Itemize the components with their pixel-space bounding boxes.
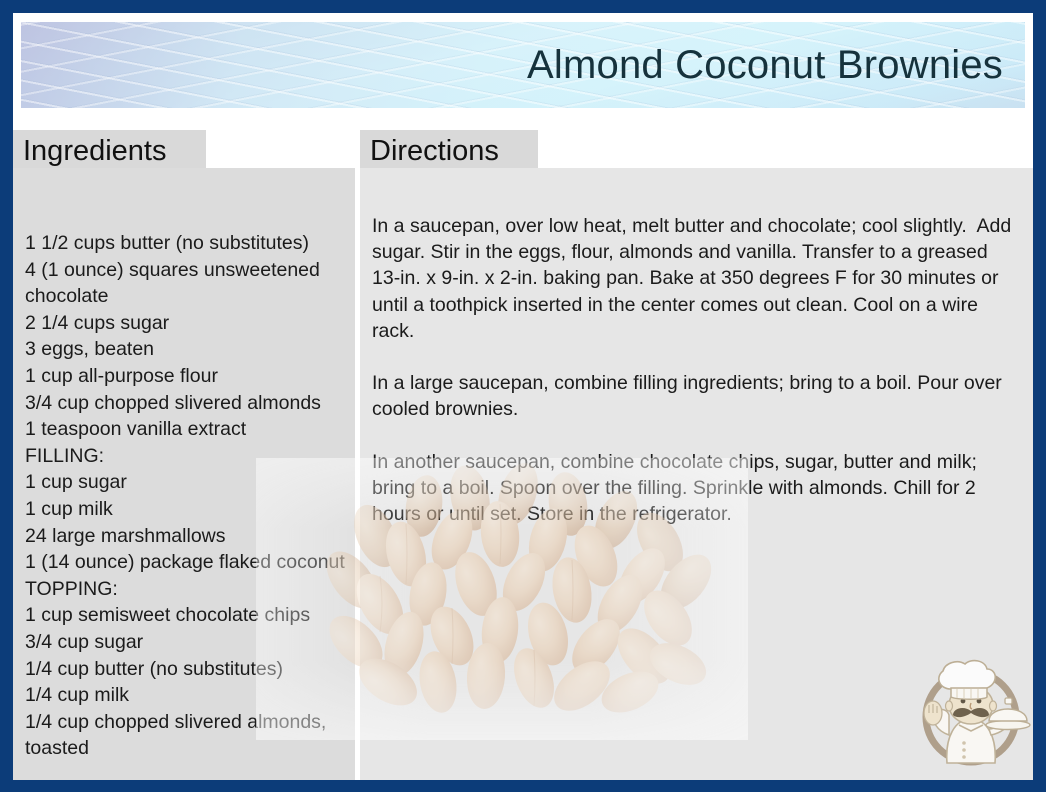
ingredients-heading: Ingredients [13,130,206,172]
directions-text: In a saucepan, over low heat, melt butte… [372,213,1020,527]
directions-heading: Directions [360,130,538,172]
recipe-slide: Almond Coconut Brownies Ingredients 1 1/… [0,0,1046,792]
title-banner: Almond Coconut Brownies [21,22,1025,108]
chef-mascot-logo-icon [909,651,1033,775]
ingredients-list: 1 1/2 cups butter (no substitutes) 4 (1 … [25,230,355,762]
ingredients-panel: 1 1/2 cups butter (no substitutes) 4 (1 … [13,168,355,780]
page-title: Almond Coconut Brownies [527,44,1003,86]
slide-canvas: Almond Coconut Brownies Ingredients 1 1/… [13,13,1033,780]
